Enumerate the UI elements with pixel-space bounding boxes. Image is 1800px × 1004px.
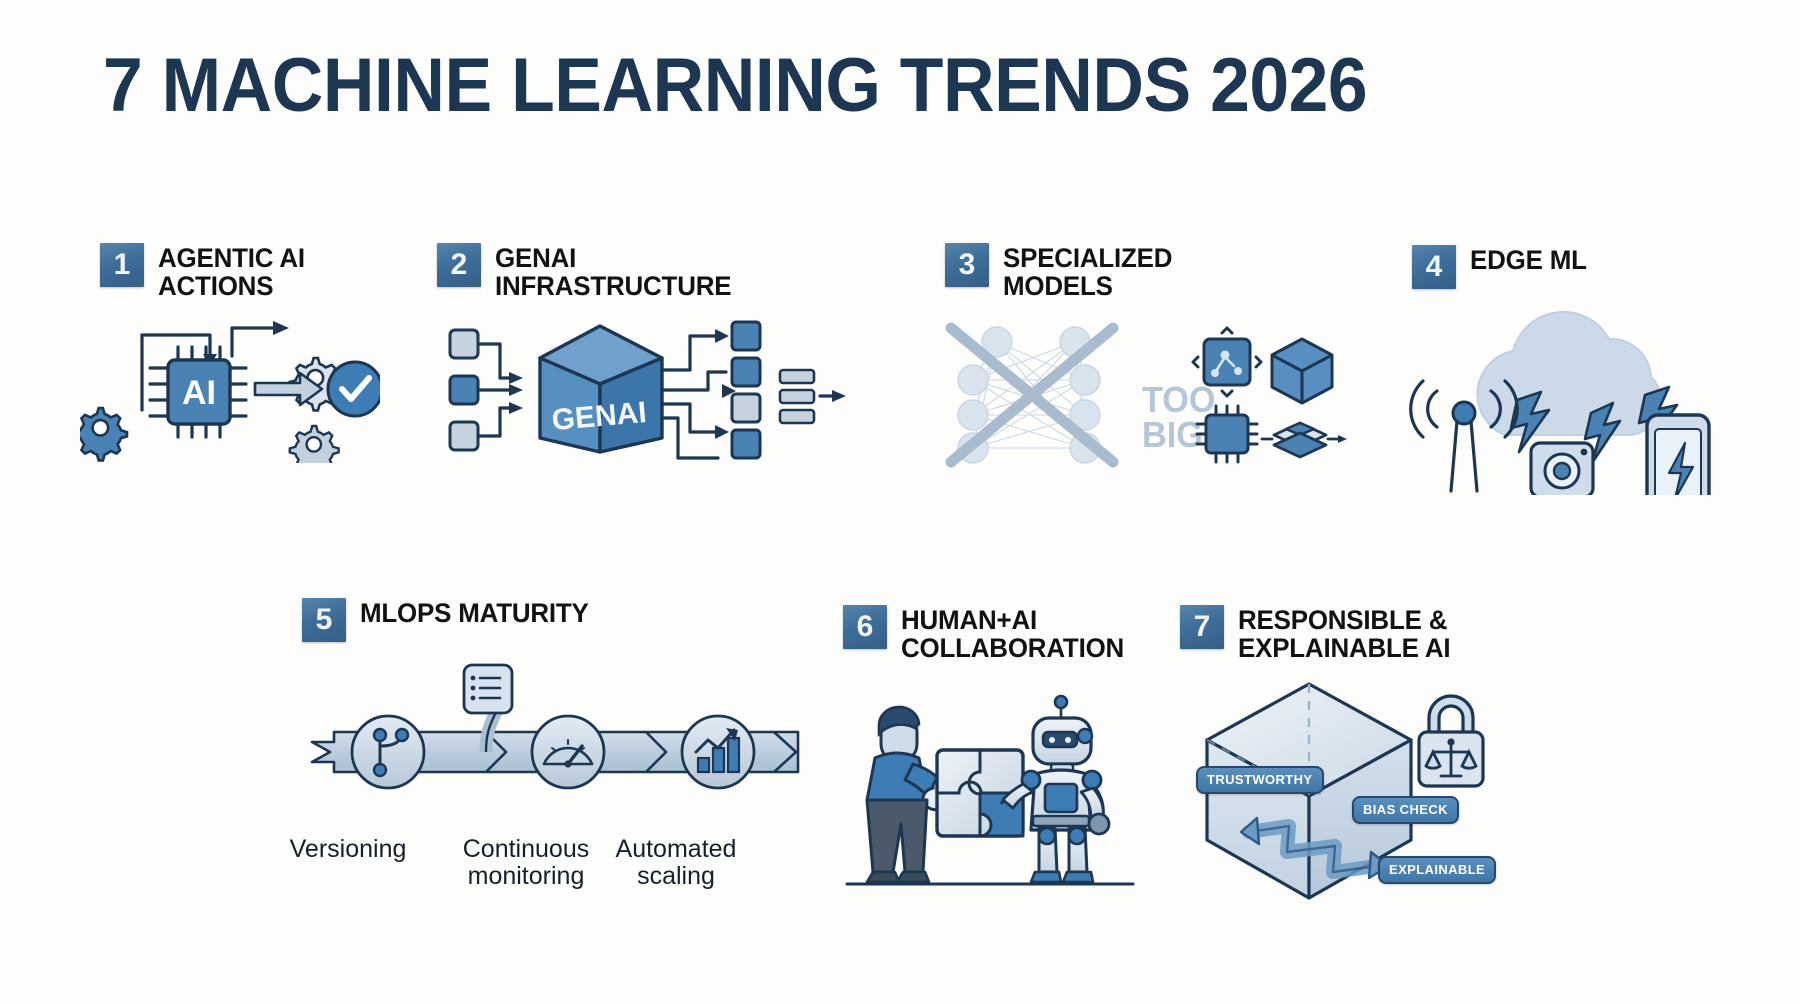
branch-icon [352, 716, 424, 788]
trend-7-header: 7 RESPONSIBLE & EXPLAINABLE AI [1180, 605, 1459, 662]
ai-chip-text: AI [182, 374, 216, 412]
trend-1-header: 1 AGENTIC AI ACTIONS [100, 243, 311, 300]
cube-icon: GENAI [540, 326, 662, 452]
trend-1-label: AGENTIC AI ACTIONS [158, 243, 305, 300]
trend-3-number: 3 [945, 243, 989, 287]
trend-1-illustration: AI [80, 318, 380, 463]
trend-card-3: 3 SPECIALIZED MODELS [945, 243, 1179, 300]
antenna-dot-icon [1453, 402, 1475, 424]
robot-icon [1001, 696, 1109, 882]
trend-7-label: RESPONSIBLE & EXPLAINABLE AI [1238, 605, 1450, 662]
trend-3-network [935, 320, 1145, 470]
gear-icon [80, 408, 127, 460]
trend-2-header: 2 GENAI INFRASTRUCTURE [437, 243, 741, 300]
trend-card-4: 4 EDGE ML [1412, 245, 1592, 289]
trend-3-small-models [1190, 325, 1350, 465]
trend-card-7: 7 RESPONSIBLE & EXPLAINABLE AI [1180, 605, 1459, 662]
trend-4-header: 4 EDGE ML [1412, 245, 1592, 289]
node-square-icon [450, 330, 478, 450]
trend-1-number: 1 [100, 243, 144, 287]
trend-5-stage-2-caption: Continuous monitoring [446, 836, 606, 890]
trend-5-number: 5 [302, 598, 346, 642]
phone-icon [1647, 415, 1709, 495]
gear-icon [290, 426, 339, 463]
trend-6-header: 6 HUMAN+AI COLLABORATION [843, 605, 1133, 662]
trend-2-illustration: GENAI [440, 318, 890, 463]
lock-scales-icon [1419, 696, 1483, 786]
cloud-icon [1477, 312, 1661, 435]
trend-5-header: 5 MLOPS MATURITY [302, 598, 598, 642]
trend-5-stage-3-caption: Automated scaling [596, 836, 756, 890]
trend-7-badge-bias-check: BIAS CHECK [1352, 796, 1459, 824]
trend-7-badge-trustworthy: TRUSTWORTHY [1196, 766, 1324, 794]
trend-3-header: 3 SPECIALIZED MODELS [945, 243, 1179, 300]
node-square-icon [780, 370, 814, 423]
gauge-icon [532, 716, 604, 788]
trend-card-2: 2 GENAI INFRASTRUCTURE [437, 243, 741, 300]
model-cube-icon [1272, 339, 1332, 403]
trend-2-label: GENAI INFRASTRUCTURE [495, 243, 731, 300]
chip-icon [1197, 406, 1257, 462]
bar-chart-up-icon [682, 716, 754, 788]
trend-6-number: 6 [843, 605, 887, 649]
trend-7-number: 7 [1180, 605, 1224, 649]
trend-5-pipeline [290, 660, 800, 845]
trend-card-1: 1 AGENTIC AI ACTIONS [100, 243, 311, 300]
trend-3-label: SPECIALIZED MODELS [1003, 243, 1172, 300]
node-square-icon [732, 322, 760, 458]
trend-5-stage-1-caption: Versioning [268, 836, 428, 863]
model-box-icon [1193, 328, 1261, 396]
trend-4-number: 4 [1412, 245, 1456, 289]
trend-4-label: EDGE ML [1470, 245, 1587, 275]
trend-7-badge-explainable: EXPLAINABLE [1378, 856, 1496, 884]
trend-6-illustration [845, 688, 1135, 903]
trend-card-6: 6 HUMAN+AI COLLABORATION [843, 605, 1133, 662]
trend-card-5: 5 MLOPS MATURITY [302, 598, 598, 642]
trend-5-label: MLOPS MATURITY [360, 598, 589, 628]
trend-6-label: HUMAN+AI COLLABORATION [901, 605, 1124, 662]
camera-icon [1531, 443, 1593, 495]
trend-4-illustration [1395, 295, 1725, 495]
infographic-canvas: 7 MACHINE LEARNING TRENDS 2026 1 AGENTIC… [0, 0, 1800, 1004]
trend-2-number: 2 [437, 243, 481, 287]
layers-icon [1262, 423, 1347, 457]
check-circle-icon [328, 362, 380, 416]
page-title: 7 MACHINE LEARNING TRENDS 2026 [103, 42, 1367, 129]
